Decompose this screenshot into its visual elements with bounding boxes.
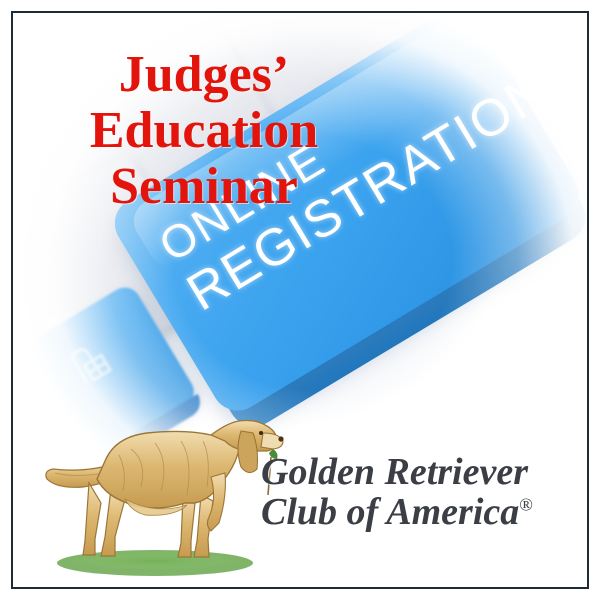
title-line-2: Education [39, 103, 369, 159]
dog-ear [238, 431, 258, 473]
title-line-1: Judges’ [39, 47, 369, 103]
poster: ONLINE REGISTRATION Judges’ Education Se… [0, 0, 600, 600]
wordmark-line-2-text: Club of America [261, 491, 519, 533]
page-title: Judges’ Education Seminar [39, 47, 369, 215]
grca-wordmark: Golden Retriever Club of America® [261, 453, 589, 532]
golden-retriever-logo [35, 391, 285, 586]
poster-frame: ONLINE REGISTRATION Judges’ Education Se… [11, 11, 589, 589]
wordmark-line-2: Club of America® [261, 493, 589, 533]
dog-illustration-icon [35, 391, 285, 586]
wordmark-line-1: Golden Retriever [261, 453, 589, 493]
dog-nose [278, 436, 283, 441]
dog-hind-leg-far [83, 483, 101, 555]
title-line-3: Seminar [39, 159, 369, 215]
dog-eye [259, 431, 263, 435]
registered-trademark-symbol: ® [519, 494, 533, 514]
